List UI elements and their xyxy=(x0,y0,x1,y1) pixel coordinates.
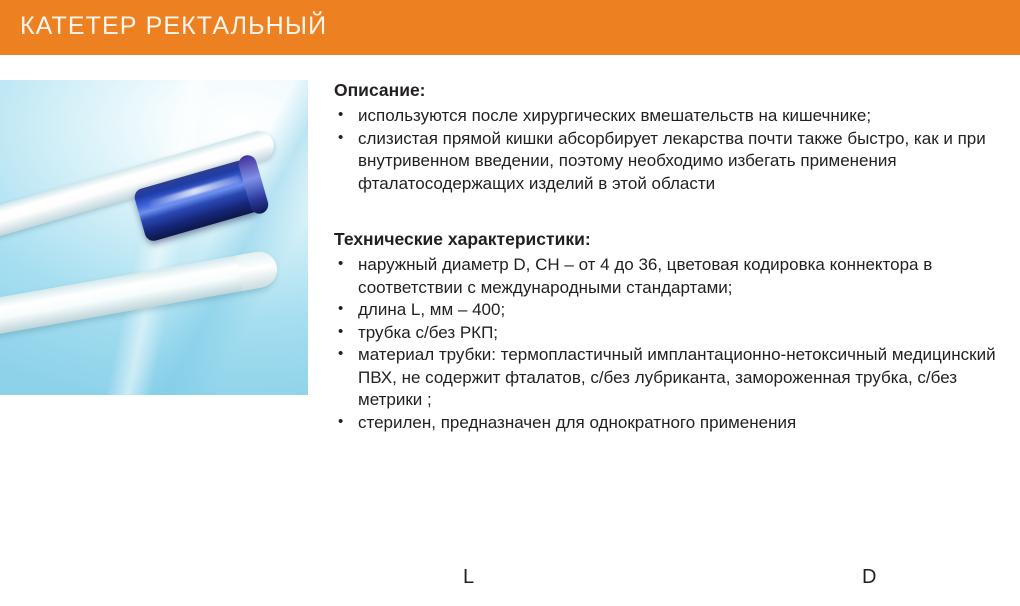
page-title: КАТЕТЕР РЕКТАЛЬНЫЙ xyxy=(20,12,327,41)
dimension-label-D: D xyxy=(862,566,876,589)
description-section: Описание: используются после хирургическ… xyxy=(334,80,1000,195)
dimension-label-L: L xyxy=(463,566,474,589)
list-item: длина L, мм – 400; xyxy=(334,299,1000,322)
list-item: стерилен, предназначен для однократного … xyxy=(334,412,1000,435)
list-item: слизистая прямой кишки абсорбирует лекар… xyxy=(334,128,1000,196)
list-item: наружный диаметр D, CH – от 4 до 36, цве… xyxy=(334,254,1000,299)
technical-list: наружный диаметр D, CH – от 4 до 36, цве… xyxy=(334,254,1000,434)
list-item: материал трубки: термопластичный имплант… xyxy=(334,344,1000,412)
technical-specs-section: Технические характеристики: наружный диа… xyxy=(334,229,1000,434)
list-item: используются после хирургических вмешате… xyxy=(334,105,1000,128)
product-photo xyxy=(0,80,308,395)
description-list: используются после хирургических вмешате… xyxy=(334,105,1000,195)
list-item: трубка с/без РКП; xyxy=(334,322,1000,345)
header-banner: КАТЕТЕР РЕКТАЛЬНЫЙ xyxy=(0,0,1020,55)
content-text-column: Описание: используются после хирургическ… xyxy=(334,80,1000,434)
technical-heading: Технические характеристики: xyxy=(334,229,1000,250)
description-heading: Описание: xyxy=(334,80,1000,101)
